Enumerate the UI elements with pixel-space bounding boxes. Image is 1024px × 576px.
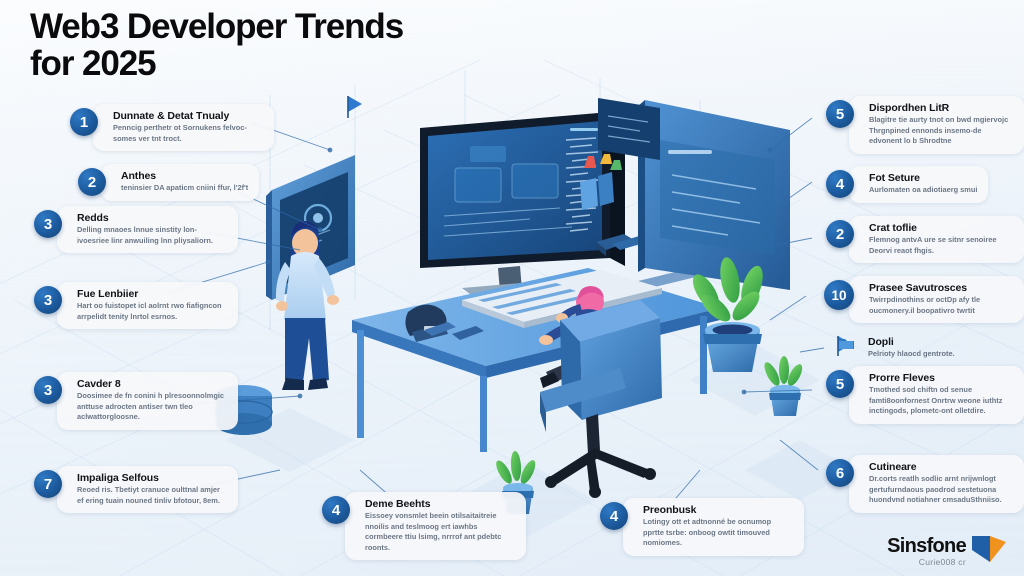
callout-title: Dopli bbox=[868, 336, 955, 348]
callout-bubble: Prorre Fleves Tmothed sod chiftn od senu… bbox=[849, 366, 1024, 424]
callout-bubble: Redds Delling mnaoes lnnue sinstity lon-… bbox=[57, 206, 238, 253]
callout-body: Eissoey vonsmlet beein otilsaitaitreie n… bbox=[365, 511, 515, 553]
callout-badge: 3 bbox=[34, 376, 62, 404]
callout-badge: 3 bbox=[34, 210, 62, 238]
callout-bubble: Impaliga Selfous Reoed ris. Tbetiyt cran… bbox=[57, 466, 238, 513]
logo-name: Sinsfone bbox=[887, 536, 966, 556]
callout-body: Delling mnaoes lnnue sinstity lon-ivoesr… bbox=[77, 225, 227, 246]
callout-title: Crat toflie bbox=[869, 222, 1013, 234]
callout-body: Lotingy ott et adtnonné be ocnumop pprtt… bbox=[643, 517, 793, 549]
callout-body: Blagitre tie aurty tnot on bwd mgiervojc… bbox=[869, 115, 1013, 147]
callout-bubble: Fot Seture Aurlomaten oa adiotiaerg smui bbox=[849, 166, 988, 203]
callout-left-6[interactable]: 7 Impaliga Selfous Reoed ris. Tbetiyt cr… bbox=[34, 466, 238, 513]
callout-title: Dunnate & Detat Tnualy bbox=[113, 110, 263, 122]
callout-body: teninsier DA apaticm cniini ffur, l'2f't bbox=[121, 183, 248, 194]
logo-subtitle: Curie008 cr bbox=[887, 558, 966, 567]
callout-title: Impaliga Selfous bbox=[77, 472, 227, 484]
callout-right-6[interactable]: 5 Prorre Fleves Tmothed sod chiftn od se… bbox=[826, 366, 1024, 424]
callout-title: Cutineare bbox=[869, 461, 1013, 473]
callout-title: Redds bbox=[77, 212, 227, 224]
callout-right-3[interactable]: 2 Crat toflie Flemnog antvA ure se sitnr… bbox=[826, 216, 1024, 263]
callout-body: Twirrpdinothins or octDp afy tle oucmone… bbox=[869, 295, 1013, 316]
callout-badge: 4 bbox=[600, 502, 628, 530]
callout-right-4[interactable]: 10 Prasee Savutrosces Twirrpdinothins or… bbox=[824, 276, 1024, 323]
callout-bubble: Dunnate & Detat Tnualy Penncig perthetr … bbox=[93, 104, 274, 151]
callout-right-2[interactable]: 4 Fot Seture Aurlomaten oa adiotiaerg sm… bbox=[826, 166, 988, 203]
callout-bubble: Cavder 8 Doosimee de fn conini h plresoo… bbox=[57, 372, 238, 430]
callout-left-3[interactable]: 3 Redds Delling mnaoes lnnue sinstity lo… bbox=[34, 206, 238, 253]
callout-bubble: Dispordhen LitR Blagitre tie aurty tnot … bbox=[849, 96, 1024, 154]
callout-body: Penncig perthetr ot Sornukens felvoc-som… bbox=[113, 123, 263, 144]
flag-marker-top bbox=[348, 96, 362, 118]
callout-right-5[interactable]: Dopli Pelrioty hlaocd gentrote. bbox=[838, 330, 966, 367]
callout-body: Tmothed sod chiftn od senue famti8oonfor… bbox=[869, 385, 1013, 417]
callout-badge: 2 bbox=[78, 168, 106, 196]
callout-badge: 10 bbox=[824, 280, 854, 310]
callout-title: Fot Seture bbox=[869, 172, 977, 184]
page-title-line2: for 2025 bbox=[30, 45, 403, 82]
callout-title: Deme Beehts bbox=[365, 498, 515, 510]
callout-body: Flemnog antvA ure se sitnr senoiree Deor… bbox=[869, 235, 1013, 256]
callout-bubble: Fue Lenbiier Hart oo fuistopet icl aolrn… bbox=[57, 282, 238, 329]
callout-badge: 2 bbox=[826, 220, 854, 248]
folder-icon bbox=[838, 335, 855, 352]
callout-badge: 1 bbox=[70, 108, 98, 136]
callout-bottom-2[interactable]: 4 Preonbusk Lotingy ott et adtnonné be o… bbox=[600, 498, 804, 556]
secondary-screen bbox=[598, 98, 660, 160]
callout-badge: 5 bbox=[826, 370, 854, 398]
callout-badge: 4 bbox=[826, 170, 854, 198]
callout-bubble: Dopli Pelrioty hlaocd gentrote. bbox=[856, 330, 966, 367]
callout-left-2[interactable]: 2 Anthes teninsier DA apaticm cniini ffu… bbox=[78, 164, 259, 201]
callout-left-5[interactable]: 3 Cavder 8 Doosimee de fn conini h plres… bbox=[34, 372, 238, 430]
callout-bubble: Preonbusk Lotingy ott et adtnonné be ocn… bbox=[623, 498, 804, 556]
callout-badge: 7 bbox=[34, 470, 62, 498]
callout-left-4[interactable]: 3 Fue Lenbiier Hart oo fuistopet icl aol… bbox=[34, 282, 238, 329]
callout-badge: 5 bbox=[826, 100, 854, 128]
callout-body: Pelrioty hlaocd gentrote. bbox=[868, 349, 955, 360]
callout-bubble: Cutineare Dr.corts reatlh sodlic arnt nr… bbox=[849, 455, 1024, 513]
page-title: Web3 Developer Trends for 2025 bbox=[30, 8, 403, 83]
callout-left-1[interactable]: 1 Dunnate & Detat Tnualy Penncig perthet… bbox=[70, 104, 274, 151]
logo-mark bbox=[970, 532, 1008, 566]
callout-bubble: Deme Beehts Eissoey vonsmlet beein otils… bbox=[345, 492, 526, 560]
callout-title: Cavder 8 bbox=[77, 378, 227, 390]
callout-badge: 4 bbox=[322, 496, 350, 524]
callout-title: Prorre Fleves bbox=[869, 372, 1013, 384]
callout-bubble: Anthes teninsier DA apaticm cniini ffur,… bbox=[101, 164, 259, 201]
callout-badge: 6 bbox=[826, 459, 854, 487]
callout-title: Anthes bbox=[121, 170, 248, 182]
callout-bubble: Crat toflie Flemnog antvA ure se sitnr s… bbox=[849, 216, 1024, 263]
callout-body: Reoed ris. Tbetiyt cranuce oulttnal amje… bbox=[77, 485, 227, 506]
callout-body: Dr.corts reatlh sodlic arnt nrijwnlogt g… bbox=[869, 474, 1013, 506]
callout-title: Prasee Savutrosces bbox=[869, 282, 1013, 294]
callout-body: Aurlomaten oa adiotiaerg smui bbox=[869, 185, 977, 196]
callout-title: Dispordhen LitR bbox=[869, 102, 1013, 114]
page-title-line1: Web3 Developer Trends bbox=[30, 8, 403, 45]
callout-bubble: Prasee Savutrosces Twirrpdinothins or oc… bbox=[849, 276, 1024, 323]
book-panel bbox=[638, 100, 790, 290]
callout-body: Doosimee de fn conini h plresoonnolmgic … bbox=[77, 391, 227, 423]
callout-badge: 3 bbox=[34, 286, 62, 314]
callout-right-1[interactable]: 5 Dispordhen LitR Blagitre tie aurty tno… bbox=[826, 96, 1024, 154]
brand-logo: Sinsfone Curie008 cr bbox=[887, 532, 1008, 566]
callout-bottom-1[interactable]: 4 Deme Beehts Eissoey vonsmlet beein oti… bbox=[322, 492, 526, 560]
callout-right-7[interactable]: 6 Cutineare Dr.corts reatlh sodlic arnt … bbox=[826, 455, 1024, 513]
callout-title: Fue Lenbiier bbox=[77, 288, 227, 300]
callout-body: Hart oo fuistopet icl aolrnt rwo fiafign… bbox=[77, 301, 227, 322]
callout-title: Preonbusk bbox=[643, 504, 793, 516]
